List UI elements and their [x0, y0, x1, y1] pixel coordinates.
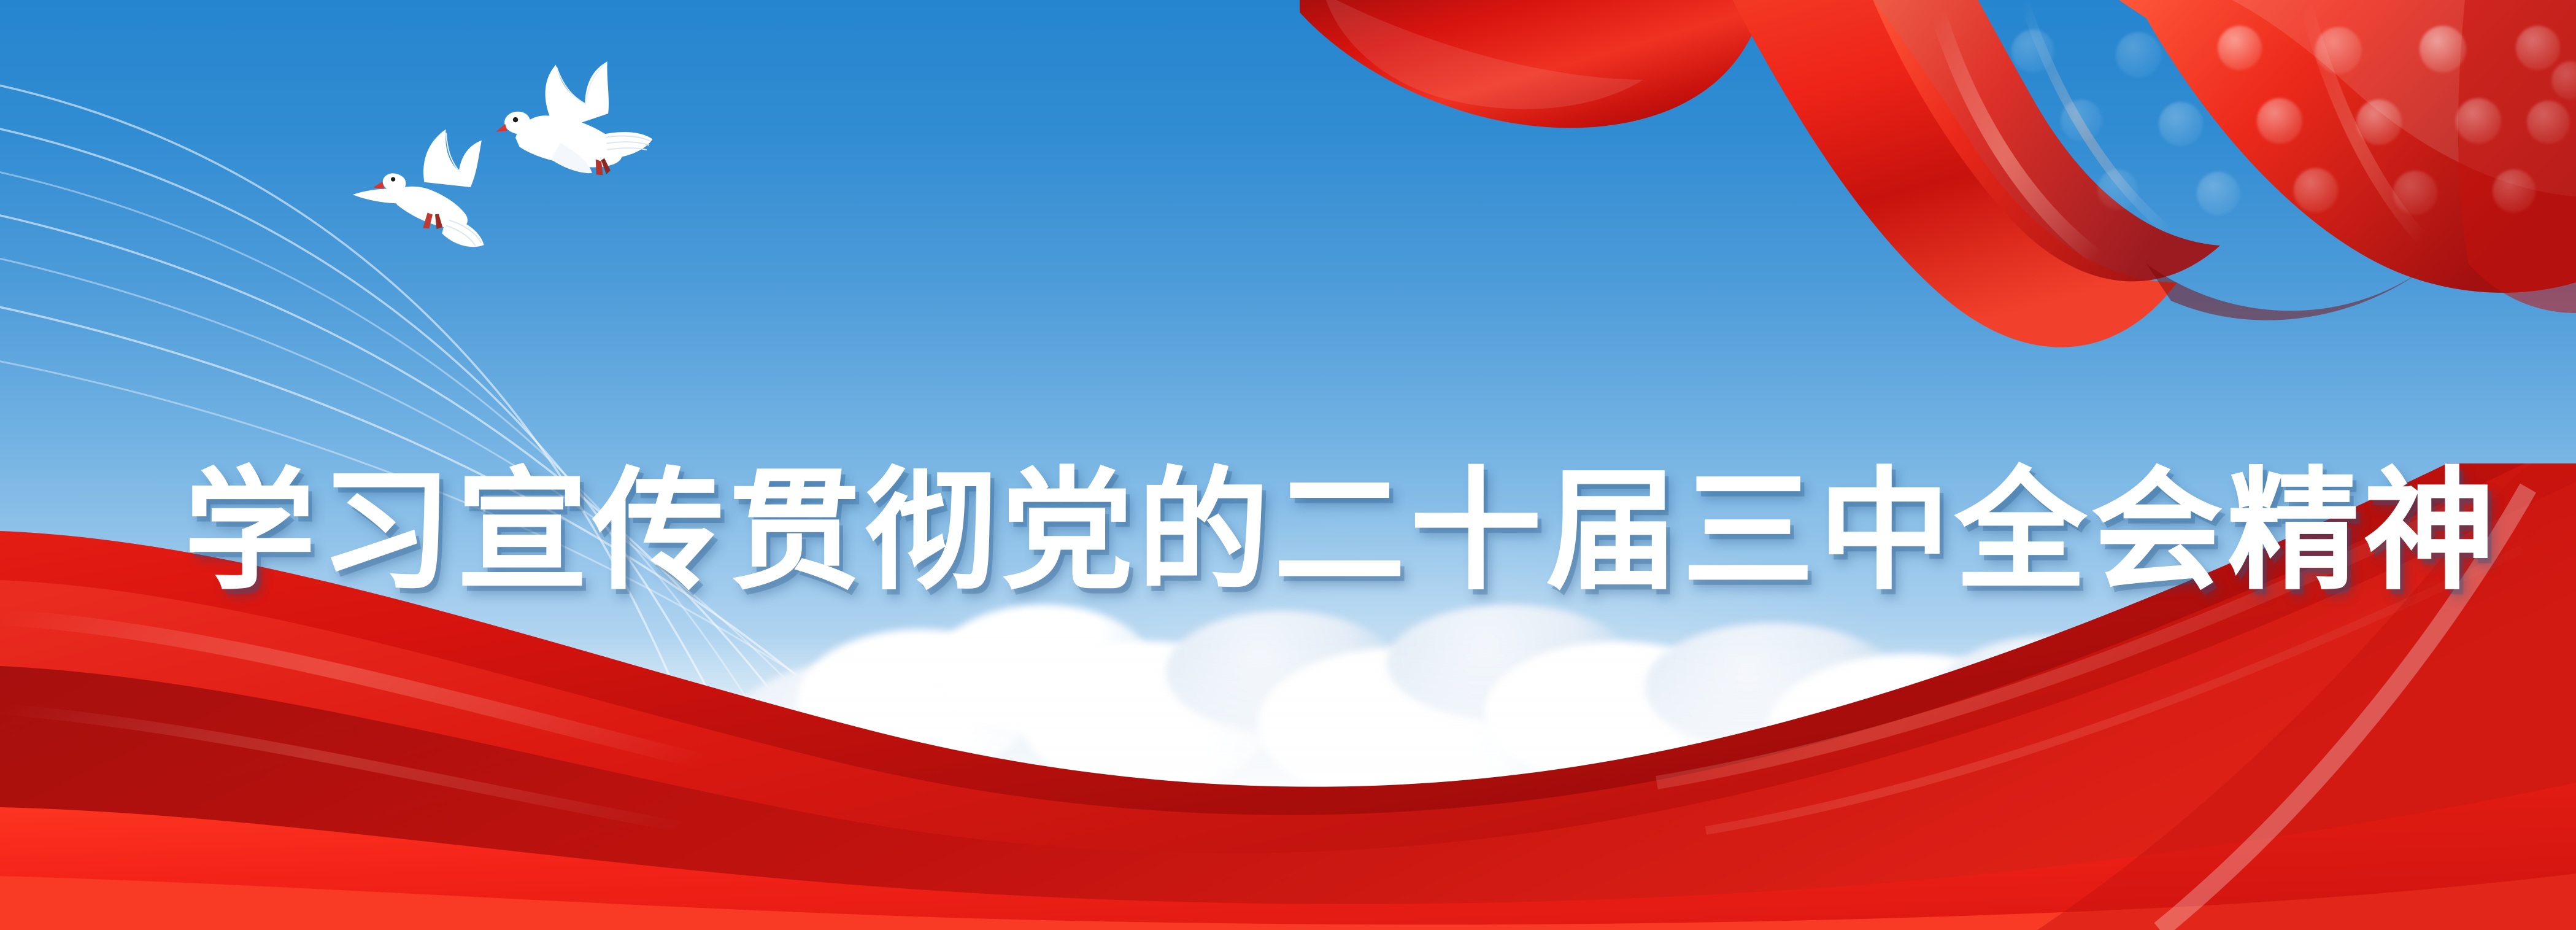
- dove-left-icon: [347, 126, 500, 258]
- dove-right-icon: [472, 55, 657, 215]
- page-title: 学习宣传贯彻党的二十届三中全会精神: [184, 467, 2405, 599]
- red-ribbon-decoration: [1300, 0, 2576, 338]
- propaganda-banner: 学习宣传贯彻党的二十届三中全会精神: [0, 0, 2576, 930]
